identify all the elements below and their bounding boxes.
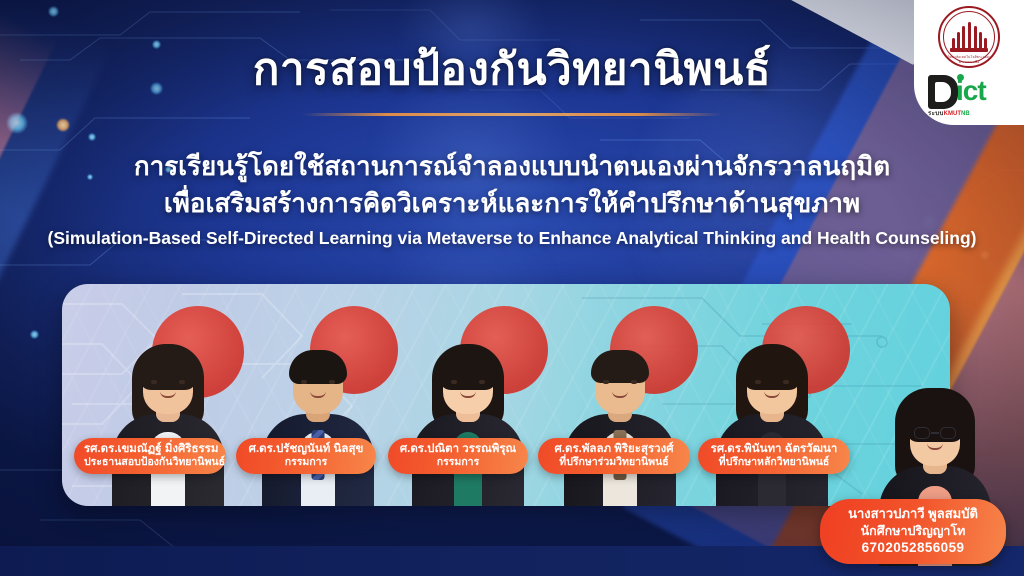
student-name: นางสาวปภาวี พูลสมบัติ bbox=[828, 506, 998, 523]
committee-portrait-1 bbox=[108, 326, 228, 506]
hair-top bbox=[289, 350, 347, 384]
name-plate-1: รศ.ดร.เขมณัฏฐ์ มิ่งศิริธรรม ประธานสอบป้อ… bbox=[74, 438, 226, 474]
dict-d-mark bbox=[928, 75, 958, 109]
committee-portrait-2 bbox=[258, 326, 378, 506]
dict-sub-red: KMUT bbox=[944, 111, 961, 117]
eyes bbox=[603, 380, 637, 384]
dict-wordmark: ict bbox=[956, 76, 986, 106]
committee-name: รศ.ดร.เขมณัฏฐ์ มิ่งศิริธรรม bbox=[84, 442, 216, 456]
committee-name: ศ.ดร.ปรัชญนันท์ นิลสุข bbox=[246, 442, 366, 456]
subtitle-english: (Simulation-Based Self-Directed Learning… bbox=[0, 228, 1024, 249]
committee-name: ศ.ดร.ปณิตา วรรณพิรุณ bbox=[398, 442, 518, 456]
name-plate-2: ศ.ดร.ปรัชญนันท์ นิลสุข กรรมการ bbox=[236, 438, 376, 474]
eyes bbox=[755, 380, 789, 384]
name-plate-5: รศ.ดร.พินันทา ฉัตรวัฒนา ที่ปรึกษาหลักวิท… bbox=[698, 438, 850, 474]
seal-motif bbox=[949, 20, 989, 54]
committee-name: รศ.ดร.พินันทา ฉัตรวัฒนา bbox=[708, 442, 840, 456]
student-id: 6702052856059 bbox=[828, 539, 998, 556]
dict-sub-prefix: ระบบ bbox=[928, 111, 944, 117]
kmutnb-seal-logo: มหาวิทยาลัยเทคโนโลยีพระจอมเกล้าพระนครเหน… bbox=[938, 6, 1000, 68]
committee-portrait-3 bbox=[408, 326, 528, 506]
student-name-plate: นางสาวปภาวี พูลสมบัติ นักศึกษาปริญญาโท 6… bbox=[820, 499, 1006, 564]
title-underline bbox=[302, 113, 722, 116]
page-title: การสอบป้องกันวิทยานิพนธ์ bbox=[0, 46, 1024, 94]
eyes bbox=[451, 380, 485, 384]
committee-role: ที่ปรึกษาร่วมวิทยานิพนธ์ bbox=[548, 456, 680, 469]
committee-portrait-5 bbox=[712, 326, 832, 506]
eyes bbox=[151, 380, 185, 384]
committee-role: ที่ปรึกษาหลักวิทยานิพนธ์ bbox=[708, 456, 840, 469]
seal-caption: มหาวิทยาลัยเทคโนโลยีพระจอมเกล้าพระนครเหน… bbox=[940, 55, 998, 65]
subtitle-thai: การเรียนรู้โดยใช้สถานการณ์จำลองแบบนำตนเอ… bbox=[0, 148, 1024, 222]
dict-sub-green: NB bbox=[961, 111, 970, 117]
dict-logo: ict ระบบKMUTNB bbox=[926, 73, 1012, 119]
committee-role: กรรมการ bbox=[398, 456, 518, 469]
eyeglasses bbox=[914, 427, 956, 440]
subtitle-line-1: การเรียนรู้โดยใช้สถานการณ์จำลองแบบนำตนเอ… bbox=[0, 148, 1024, 185]
dict-subtext: ระบบKMUTNB bbox=[928, 108, 1012, 118]
committee-role: กรรมการ bbox=[246, 456, 366, 469]
name-plate-3: ศ.ดร.ปณิตา วรรณพิรุณ กรรมการ bbox=[388, 438, 528, 474]
hair-top bbox=[591, 350, 649, 383]
name-plate-4: ศ.ดร.พัลลภ พิริยะสุรวงศ์ ที่ปรึกษาร่วมวิ… bbox=[538, 438, 690, 474]
thesis-defense-poster: มหาวิทยาลัยเทคโนโลยีพระจอมเกล้าพระนครเหน… bbox=[0, 0, 1024, 576]
committee-portrait-4 bbox=[560, 326, 680, 506]
eyes bbox=[301, 380, 335, 384]
committee-name: ศ.ดร.พัลลภ พิริยะสุรวงศ์ bbox=[548, 442, 680, 456]
subtitle-line-2: เพื่อเสริมสร้างการคิดวิเคราะห์และการให้ค… bbox=[0, 185, 1024, 222]
logo-block: มหาวิทยาลัยเทคโนโลยีพระจอมเกล้าพระนครเหน… bbox=[914, 0, 1024, 125]
committee-role: ประธานสอบป้องกันวิทยานิพนธ์ bbox=[84, 456, 216, 469]
student-role: นักศึกษาปริญญาโท bbox=[828, 523, 998, 539]
